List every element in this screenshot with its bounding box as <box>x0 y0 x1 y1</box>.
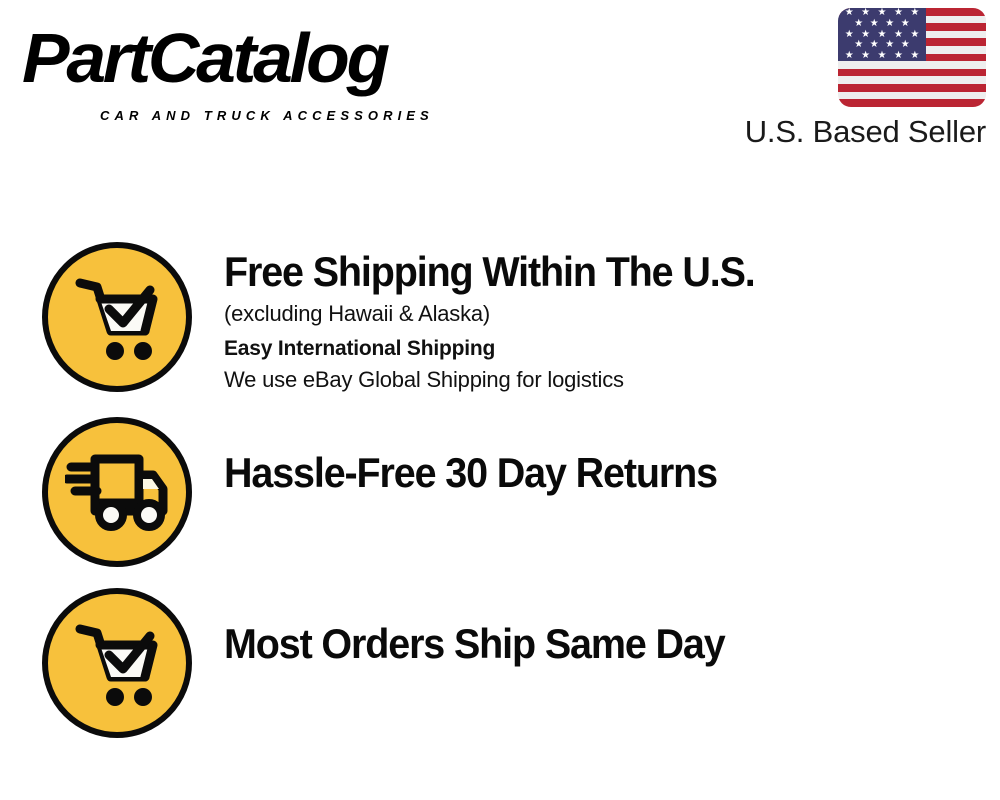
feature-text-block: Most Orders Ship Same Day <box>224 588 757 670</box>
feature-title: Free Shipping Within The U.S. <box>224 246 755 298</box>
shopping-cart-check-icon <box>42 588 192 738</box>
feature-subtitle-international: Easy International Shipping <box>224 333 788 364</box>
brand-tagline: CAR AND TRUCK ACCESSORIES <box>100 108 434 123</box>
flag-star-row: ★★★★★ <box>838 8 926 19</box>
brand-logo: PartCatalog CAR AND TRUCK ACCESSORIES <box>22 20 492 115</box>
feature-text-block: Hassle-Free 30 Day Returns <box>224 417 748 499</box>
flag-star-row: ★★★★★ <box>838 51 926 62</box>
flag-star-row: ★★★★★ <box>838 29 926 40</box>
brand-wordmark: PartCatalog <box>22 20 387 96</box>
us-based-seller-badge: ★★★★★ ★★★★ ★★★★★ ★★★★ ★★★★★ U.S. Based S… <box>724 8 986 150</box>
shopping-cart-check-icon <box>42 242 192 392</box>
feature-title: Most Orders Ship Same Day <box>224 592 725 670</box>
feature-subtitle-logistics: We use eBay Global Shipping for logistic… <box>224 364 788 395</box>
promo-banner: PartCatalog CAR AND TRUCK ACCESSORIES <box>0 0 1000 800</box>
us-based-seller-label: U.S. Based Seller <box>724 114 986 150</box>
flag-star-row: ★★★★ <box>838 19 926 30</box>
feature-title: Hassle-Free 30 Day Returns <box>224 421 717 499</box>
feature-row-returns: Hassle-Free 30 Day Returns <box>0 417 1000 567</box>
delivery-truck-icon <box>42 417 192 567</box>
feature-text-block: Free Shipping Within The U.S. (excluding… <box>224 242 788 395</box>
feature-row-same-day: Most Orders Ship Same Day <box>0 588 1000 738</box>
flag-canton: ★★★★★ ★★★★ ★★★★★ ★★★★ ★★★★★ <box>838 8 926 61</box>
feature-row-free-shipping: Free Shipping Within The U.S. (excluding… <box>0 242 1000 395</box>
feature-subtitle-exclusion: (excluding Hawaii & Alaska) <box>224 298 788 329</box>
us-flag-icon: ★★★★★ ★★★★ ★★★★★ ★★★★ ★★★★★ <box>838 8 986 107</box>
